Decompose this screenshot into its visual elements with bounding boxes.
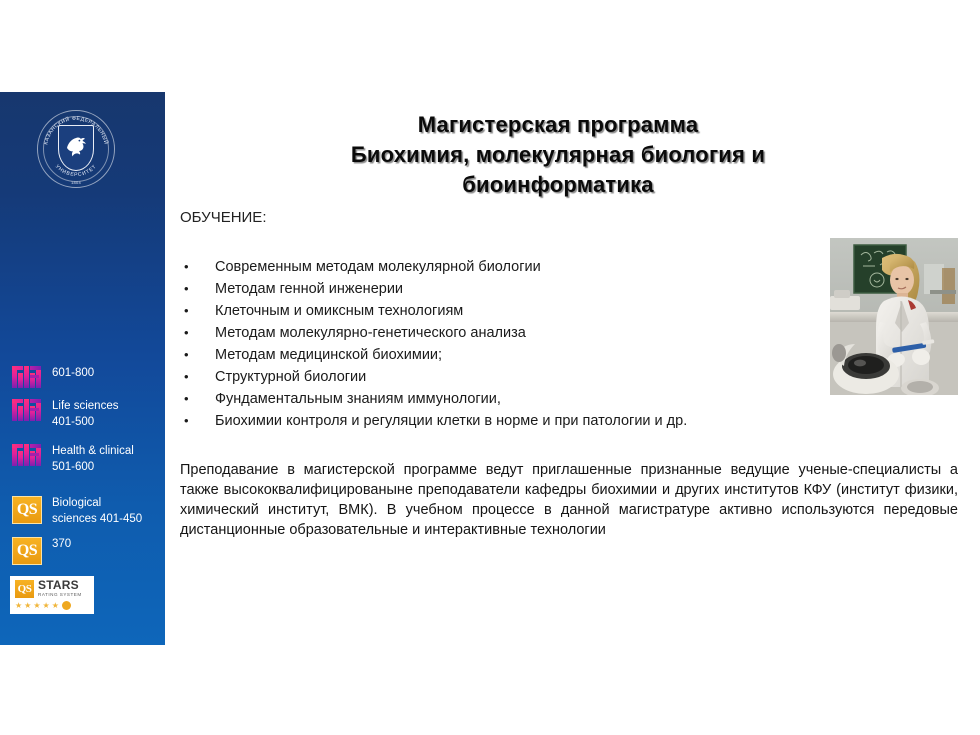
page-title: Магистерская программа Биохимия, молекул… — [258, 110, 858, 200]
qs-stars-title: STARS — [38, 580, 82, 591]
title-line-1: Магистерская программа — [258, 110, 858, 140]
laboratory-photo — [830, 238, 958, 395]
qs-stars-star-strip: ★ ★ ★ ★ ★ — [15, 601, 89, 610]
ranking-row-the-life-sciences: Life sciences 401-500 — [12, 399, 118, 430]
qs-stars-rating-badge: QS STARS RATING SYSTEM ★ ★ ★ ★ ★ — [10, 576, 94, 614]
qs-logo-icon: QS — [12, 496, 42, 524]
ranking-row-qs-overall: QS 370 — [12, 537, 71, 565]
qs-stars-wordmark: STARS RATING SYSTEM — [38, 580, 82, 598]
section-label-training: ОБУЧЕНИЕ: — [180, 209, 266, 226]
qs-stars-badge-header: QS STARS RATING SYSTEM — [15, 580, 89, 598]
list-item: Методам генной инженерии — [180, 279, 855, 301]
university-emblem-logo: КАЗАНСКИЙ ФЕДЕРАЛЬНЫЙ УНИВЕРСИТЕТ 1804 — [37, 110, 115, 188]
title-line-3: биоинформатика — [258, 170, 858, 200]
star-icon: ★ — [33, 602, 40, 610]
ranking-row-the-health-clinical: Health & clinical 501-600 — [12, 444, 134, 475]
qs-stars-subtitle: RATING SYSTEM — [38, 591, 82, 598]
ranking-row-qs-biological-sciences: QS Biological sciences 401-450 — [12, 496, 142, 527]
emblem-shield-icon — [58, 125, 94, 171]
ranking-text: Biological sciences 401-450 — [52, 496, 142, 527]
qs-stars-plus-dot-icon — [62, 601, 71, 610]
times-higher-education-logo-icon — [12, 399, 42, 421]
qs-mark-icon: QS — [15, 580, 34, 598]
times-higher-education-logo-icon — [12, 444, 42, 466]
times-higher-education-logo-icon — [12, 366, 42, 388]
star-icon: ★ — [24, 602, 31, 610]
star-icon: ★ — [43, 602, 50, 610]
list-item: Биохимии контроля и регуляции клетки в н… — [180, 411, 855, 433]
ranking-text: 601-800 — [52, 366, 94, 382]
star-icon: ★ — [15, 602, 22, 610]
star-icon: ★ — [52, 602, 59, 610]
emblem-year: 1804 — [37, 180, 115, 185]
training-topics-list: Современным методам молекулярной биологи… — [180, 257, 855, 433]
ranking-text: Life sciences 401-500 — [52, 399, 118, 430]
qs-logo-icon: QS — [12, 537, 42, 565]
list-item: Методам молекулярно-генетического анализ… — [180, 323, 855, 345]
title-line-2: Биохимия, молекулярная биология и — [258, 140, 858, 170]
ranking-row-the-overall: 601-800 — [12, 366, 94, 388]
ranking-text: 370 — [52, 537, 71, 553]
ranking-text: Health & clinical 501-600 — [52, 444, 134, 475]
presentation-slide: КАЗАНСКИЙ ФЕДЕРАЛЬНЫЙ УНИВЕРСИТЕТ 1804 — [0, 0, 980, 735]
list-item: Структурной биологии — [180, 367, 855, 389]
list-item: Фундаментальным знаниям иммунологии, — [180, 389, 855, 411]
list-item: Современным методам молекулярной биологи… — [180, 257, 855, 279]
list-item: Методам медицинской биохимии; — [180, 345, 855, 367]
program-description-paragraph: Преподавание в магистерской программе ве… — [180, 460, 958, 540]
sidebar-panel: КАЗАНСКИЙ ФЕДЕРАЛЬНЫЙ УНИВЕРСИТЕТ 1804 — [0, 92, 165, 645]
list-item: Клеточным и омиксным технологиям — [180, 301, 855, 323]
